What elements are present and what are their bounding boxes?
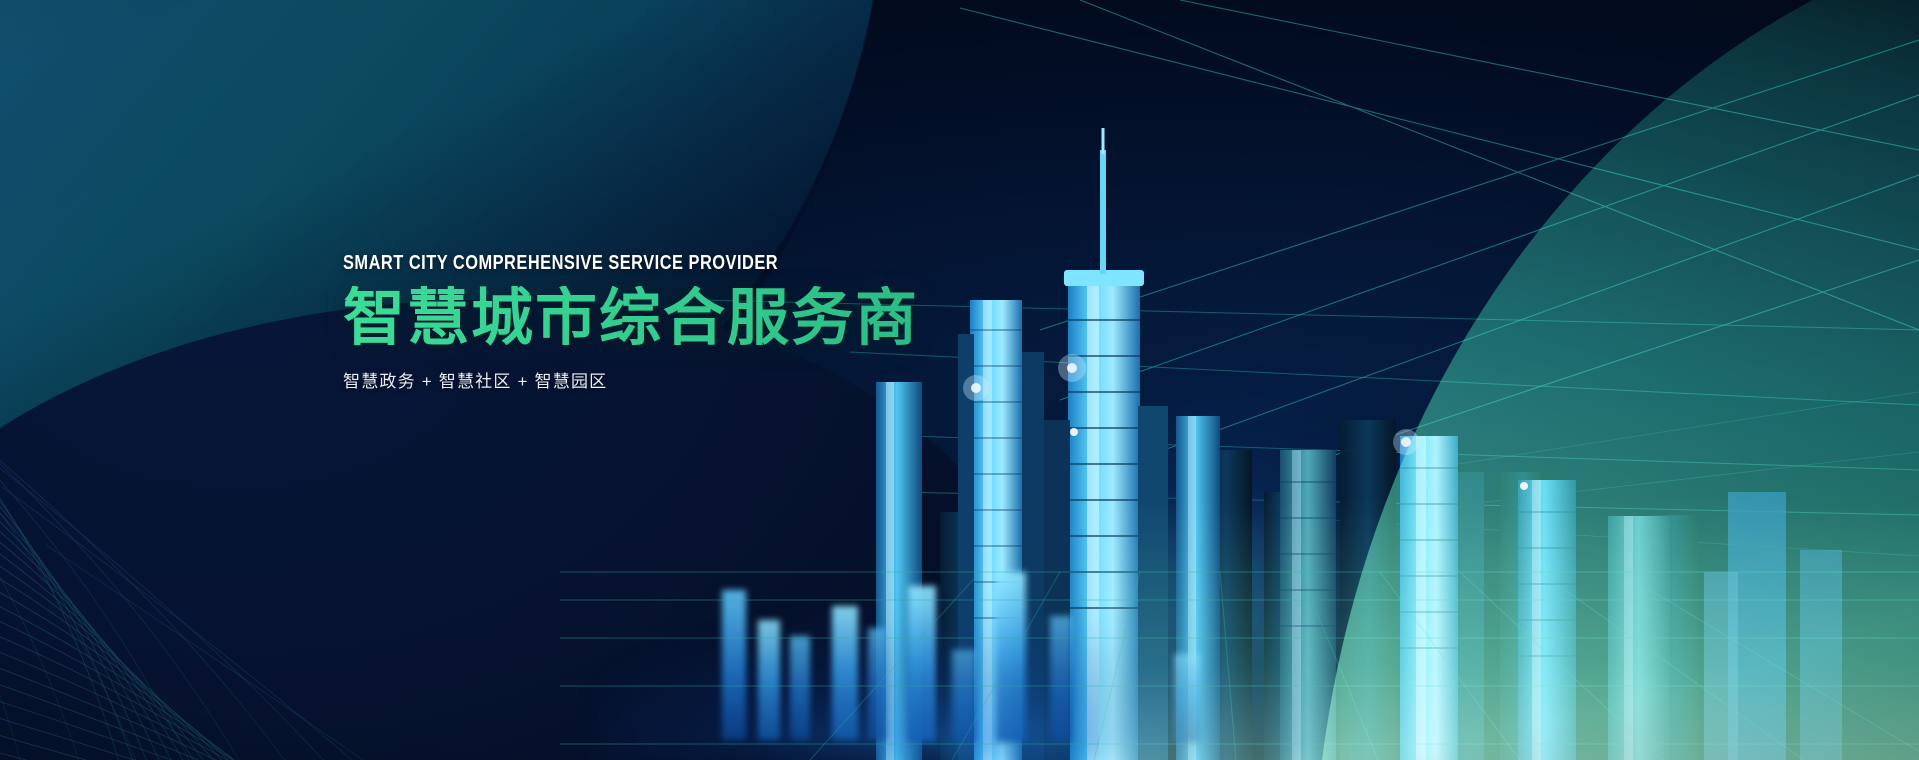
smart-city-hero-banner: SMART CITY COMPREHENSIVE SERVICE PROVIDE… (0, 0, 1919, 760)
hero-copy-block: SMART CITY COMPREHENSIVE SERVICE PROVIDE… (343, 252, 1103, 392)
green-floor-wash (1099, 500, 1919, 760)
page-title: 智慧城市综合服务商 (343, 286, 1103, 353)
hero-subtitle: 智慧政务 + 智慧社区 + 智慧园区 (343, 367, 1103, 392)
hero-eyebrow: SMART CITY COMPREHENSIVE SERVICE PROVIDE… (343, 252, 966, 274)
